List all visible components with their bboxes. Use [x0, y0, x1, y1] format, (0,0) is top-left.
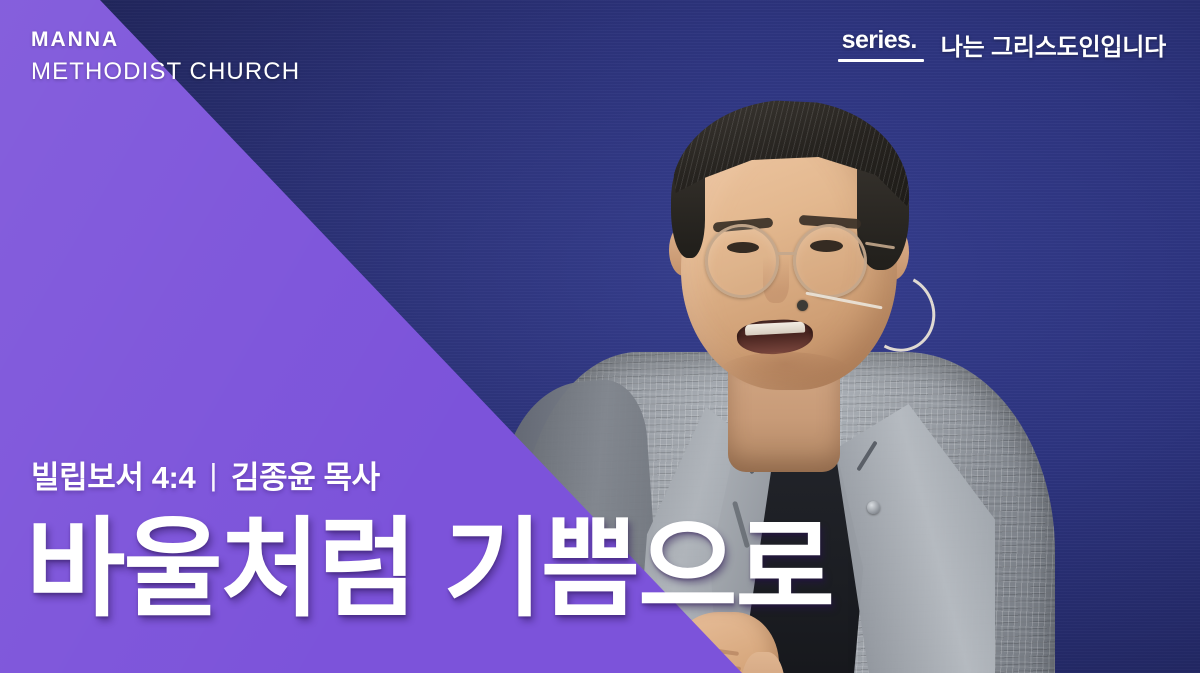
church-logo: MANNA METHODIST CHURCH — [31, 28, 300, 86]
sermon-title-slide: MANNA METHODIST CHURCH series. 나는 그리스도인입… — [0, 0, 1200, 673]
speaker-name: 김종윤 목사 — [231, 452, 380, 497]
series-lockup: series. 나는 그리스도인입니다 — [842, 26, 1166, 62]
chin-shadow — [719, 352, 851, 392]
glasses-bridge — [777, 252, 797, 255]
sermon-title: 바울처럼 기쁨으로 — [26, 512, 833, 626]
separator: | — [209, 457, 217, 493]
series-name: 나는 그리스도인입니다 — [941, 27, 1166, 62]
series-label: series. — [842, 26, 917, 62]
church-name-secondary: METHODIST CHURCH — [31, 58, 300, 86]
church-name-primary: MANNA — [31, 28, 300, 53]
scripture-and-speaker: 빌립보서 4:4 | 김종윤 목사 — [31, 452, 380, 497]
glasses-lens-right — [793, 224, 867, 298]
glasses-lens-left — [705, 224, 779, 298]
headset-mic-capsule — [797, 300, 808, 311]
blazer-button — [867, 501, 880, 514]
scripture-reference: 빌립보서 4:4 — [31, 452, 195, 497]
